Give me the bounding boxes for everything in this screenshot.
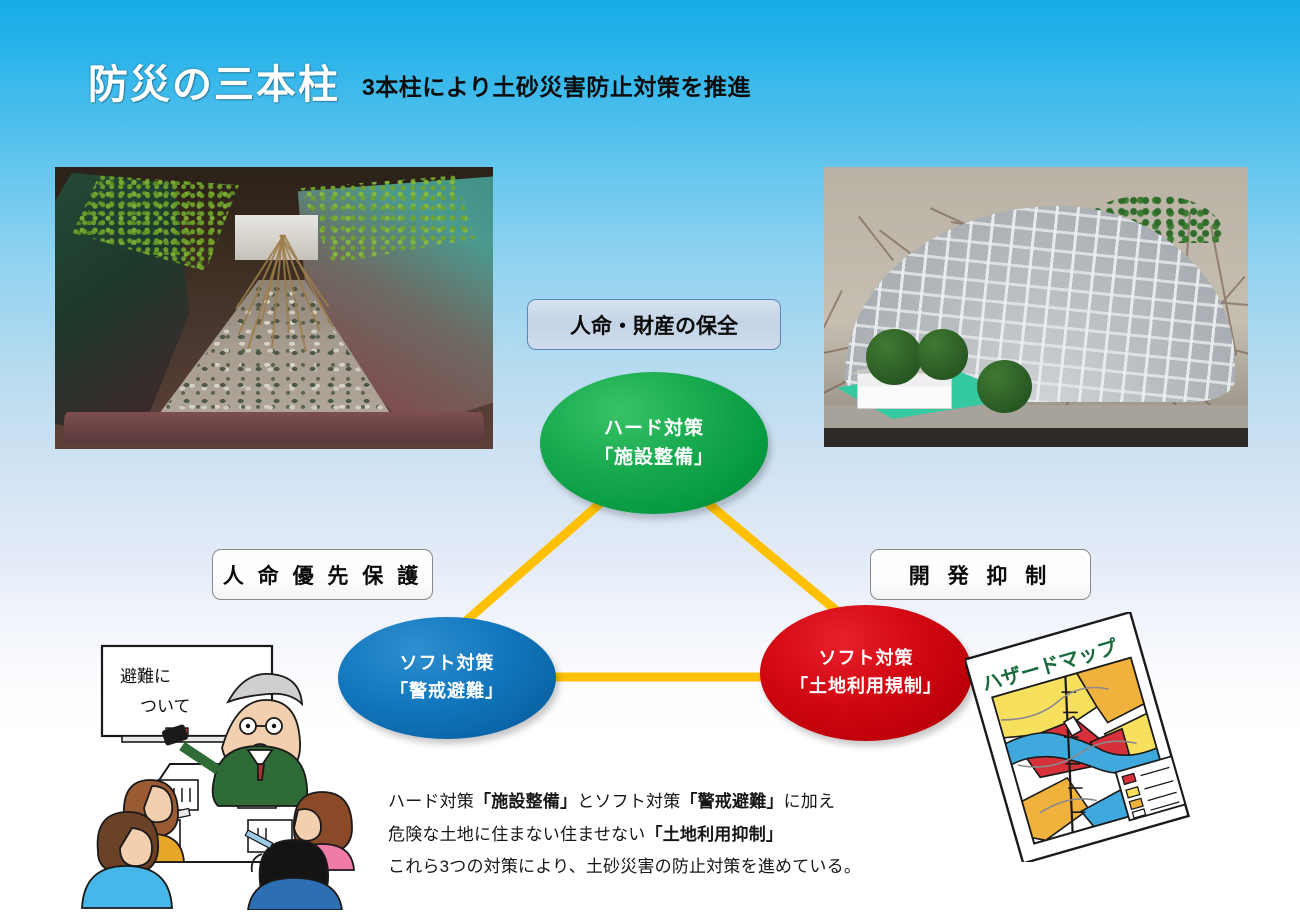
node-land-line2: 「土地利用規制」 [790,673,942,701]
whiteboard-text-line1: 避難に [120,667,171,686]
body-line1-part-e: に加え [784,792,836,811]
body-line1-part-d: 「警戒避難」 [680,792,783,811]
body-line2-part-b: 「土地利用抑制」 [646,825,784,844]
node-hard-line2: 「施設整備」 [594,443,714,472]
node-evac-line2: 「警戒避難」 [390,678,504,706]
node-hard-measures: ハード対策 「施設整備」 [540,372,768,514]
body-text-line-3: これら3つの対策により、土砂災害の防止対策を進めている。 [388,851,1028,884]
node-evac-line1: ソフト対策 [400,650,495,678]
body-text-line-2: 危険な土地に住まない住ませない「土地利用抑制」 [388,819,1028,852]
body-line2-part-a: 危険な土地に住まない住ませない [388,825,646,844]
slide-canvas: 防災の三本柱 3本柱により土砂災害防止対策を推進 人命・財産の保全 人 [0,0,1300,918]
title-block: 防災の三本柱 3本柱により土砂災害防止対策を推進 [88,52,751,110]
callout-life-priority-protection: 人 命 優 先 保 護 [212,549,433,600]
whiteboard-text-line2: ついて [140,697,191,716]
slope-protection-structure-model-photo [824,167,1248,447]
node-soft-measures-land-use: ソフト対策 「土地利用規制」 [760,605,972,741]
debris-flow-valley-model-photo [55,167,493,449]
callout-development-restraint: 開 発 抑 制 [870,549,1091,600]
node-hard-line1: ハード対策 [604,414,704,443]
body-text-line-1: ハード対策「施設整備」とソフト対策「警戒避難」に加え [388,786,1028,819]
body-line1-part-c: とソフト対策 [577,792,680,811]
evacuation-meeting-drawing: 避難に ついて [62,630,362,910]
node-soft-measures-evacuation: ソフト対策 「警戒避難」 [338,617,556,739]
body-line1-part-a: ハード対策 [388,792,474,811]
body-line1-part-b: 「施設整備」 [474,792,577,811]
page-subtitle: 3本柱により土砂災害防止対策を推進 [362,68,751,102]
body-text-block: ハード対策「施設整備」とソフト対策「警戒避難」に加え 危険な土地に住まない住ませ… [388,786,1028,884]
page-title: 防災の三本柱 [88,52,340,110]
node-land-line1: ソフト対策 [819,645,914,673]
callout-life-property-preservation: 人命・財産の保全 [527,299,781,350]
